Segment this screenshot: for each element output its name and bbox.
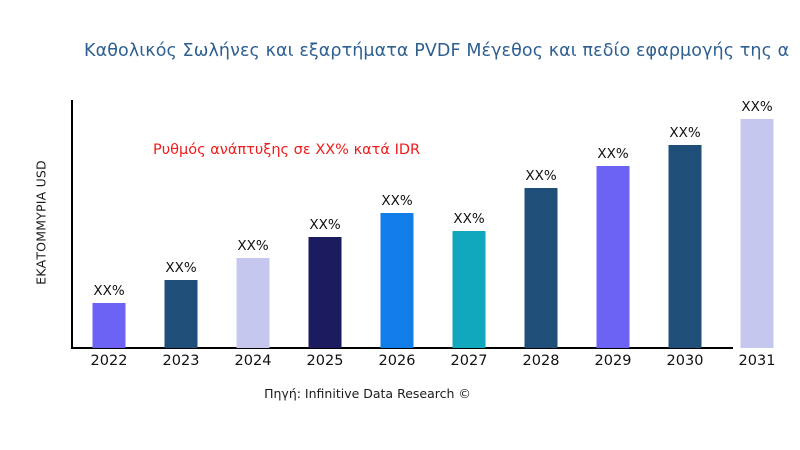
x-axis-tick: 2022 <box>73 353 145 369</box>
bar <box>93 303 126 348</box>
chart-title: Καθολικός Σωλήνες και εξαρτήματα PVDF Μέ… <box>84 38 800 64</box>
plot-area: XX%XX%XX%XX%XX%XX%XX%XX%XX%XX% <box>71 100 800 349</box>
x-axis-tick: 2023 <box>145 353 217 369</box>
bar-group: XX% <box>289 100 361 349</box>
bar-group: XX% <box>73 100 145 349</box>
bar <box>165 280 198 348</box>
x-axis-tick: 2026 <box>361 353 433 369</box>
bar-group: XX% <box>145 100 217 349</box>
bar <box>237 258 270 348</box>
x-axis-tick: 2028 <box>505 353 577 369</box>
chart-container: Καθολικός Σωλήνες και εξαρτήματα PVDF Μέ… <box>0 0 800 450</box>
bar-group: XX% <box>433 100 505 349</box>
bar <box>669 145 702 348</box>
growth-rate-annotation: Ρυθμός ανάπτυξης σε XX% κατά IDR <box>153 142 420 158</box>
bar-value-label: XX% <box>309 217 340 233</box>
x-axis-tick: 2029 <box>577 353 649 369</box>
x-axis-tick: 2027 <box>433 353 505 369</box>
bar-value-label: XX% <box>597 146 628 162</box>
bar-value-label: XX% <box>741 99 772 115</box>
bar-value-label: XX% <box>381 193 412 209</box>
bar-group: XX% <box>721 100 793 349</box>
bar-value-label: XX% <box>453 211 484 227</box>
bar <box>597 166 630 348</box>
source-note: Πηγή: Infinitive Data Research © <box>0 386 735 401</box>
bar <box>525 188 558 348</box>
bar-value-label: XX% <box>525 168 556 184</box>
bar <box>381 213 414 348</box>
x-axis-tick: 2025 <box>289 353 361 369</box>
bar <box>453 231 486 348</box>
bar-value-label: XX% <box>165 260 196 276</box>
bar-value-label: XX% <box>93 283 124 299</box>
bar-value-label: XX% <box>237 238 268 254</box>
y-axis-label: ΕΚΑΤΟΜΜΥΡΙΑ USD <box>34 93 49 353</box>
bar-group: XX% <box>361 100 433 349</box>
x-axis-tick-labels: 2022202320242025202620272028202920302031 <box>71 353 800 377</box>
bar <box>741 119 774 348</box>
x-axis-tick: 2024 <box>217 353 289 369</box>
x-axis-tick: 2031 <box>721 353 793 369</box>
bar-group: XX% <box>577 100 649 349</box>
bar-group: XX% <box>505 100 577 349</box>
x-axis-tick: 2030 <box>649 353 721 369</box>
bar <box>309 237 342 348</box>
bar-group: XX% <box>217 100 289 349</box>
bar-group: XX% <box>649 100 721 349</box>
bar-value-label: XX% <box>669 125 700 141</box>
